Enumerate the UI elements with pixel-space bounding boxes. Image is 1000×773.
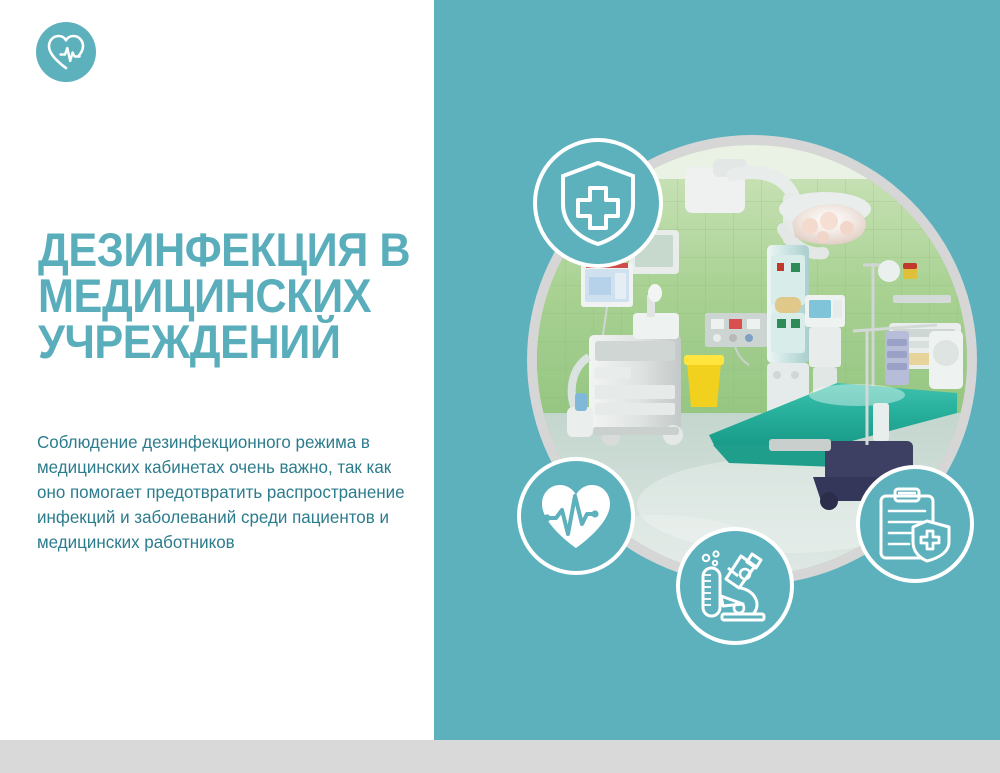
heart-pulse-icon (537, 480, 615, 552)
logo[interactable] (36, 22, 96, 82)
page-title: ДЕЗИНФЕКЦИЯ В МЕДИЦИНСКИХ УЧРЕЖДЕНИЙ (38, 227, 397, 364)
body-paragraph: Соблюдение дезинфекционного режима в мед… (37, 430, 415, 555)
badge-lab[interactable] (676, 527, 794, 645)
title-line-1: ДЕЗИНФЕКЦИЯ В (38, 227, 397, 273)
microscope-test-tube-icon (695, 548, 775, 624)
title-line-3: УЧРЕЖДЕНИЙ (38, 319, 397, 365)
title-line-2: МЕДИЦИНСКИХ (38, 273, 397, 319)
badge-clipboard-shield[interactable] (856, 465, 974, 583)
clipboard-shield-icon (875, 485, 955, 563)
badge-shield-cross[interactable] (533, 138, 663, 268)
bottom-bar (0, 740, 1000, 773)
slide-root: ДЕЗИНФЕКЦИЯ В МЕДИЦИНСКИХ УЧРЕЖДЕНИЙ Соб… (0, 0, 1000, 773)
badge-heart-pulse[interactable] (517, 457, 635, 575)
shield-cross-icon (555, 158, 641, 248)
left-content-panel (0, 0, 434, 740)
heart-pulse-icon (46, 33, 86, 71)
